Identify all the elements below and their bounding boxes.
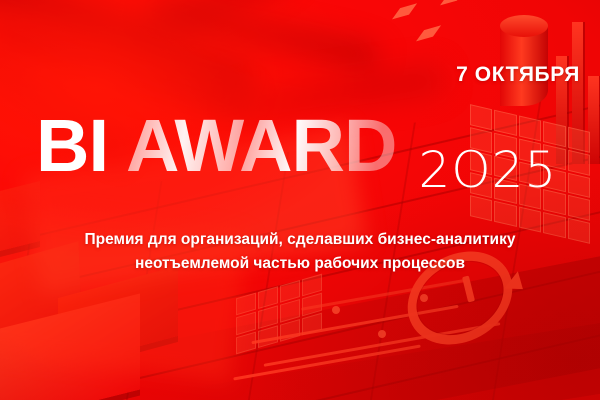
logo-year: 2O25 bbox=[418, 141, 557, 199]
tagline-line-1: Премия для организаций, сделавших бизнес… bbox=[85, 231, 516, 248]
vignette-overlay bbox=[0, 0, 600, 400]
logo-bi: BI bbox=[36, 112, 108, 180]
logo-award: AWARD bbox=[126, 112, 396, 180]
logo-wordmark: BI AWARD bbox=[36, 112, 396, 180]
event-date: 7 ОКТЯБРЯ bbox=[456, 63, 580, 87]
logo-lockup: BI AWARD 2O25 bbox=[36, 112, 582, 183]
event-tagline: Премия для организаций, сделавших бизнес… bbox=[0, 228, 600, 276]
background-artwork bbox=[0, 0, 600, 400]
bi-award-banner: 7 ОКТЯБРЯ BI AWARD 2O25 Премия для орган… bbox=[0, 0, 600, 400]
tagline-line-2: неотъемлемой частью рабочих процессов bbox=[34, 252, 566, 276]
